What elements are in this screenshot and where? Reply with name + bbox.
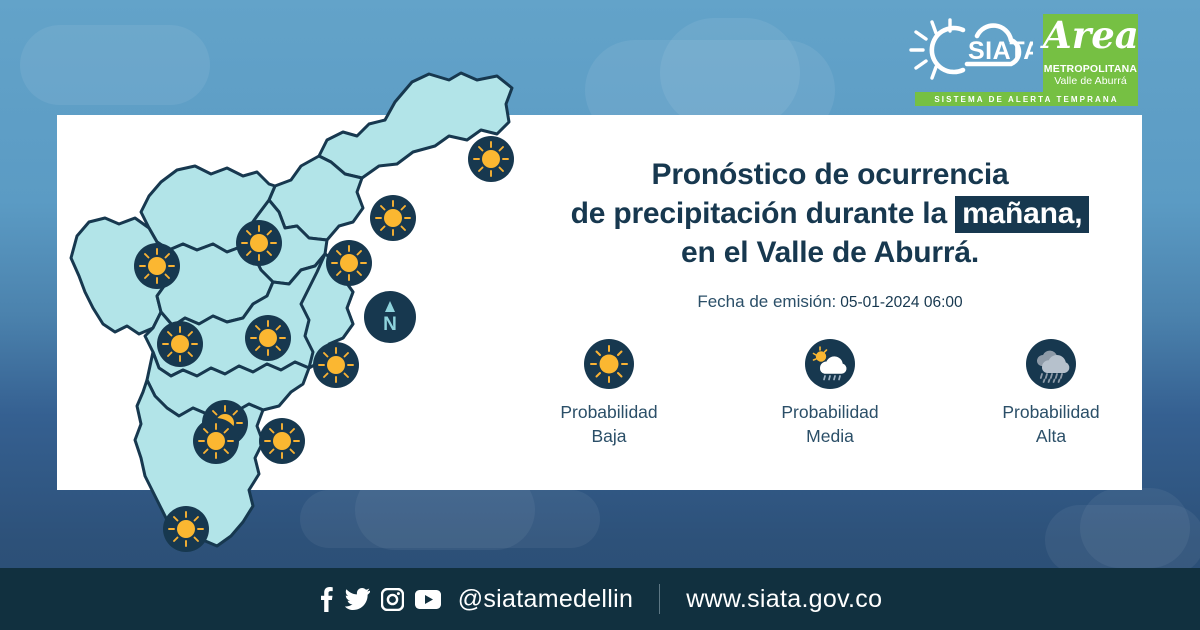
legend-caption-media: Probabilidad Media [781,401,878,448]
map-marker-san-pedro[interactable] [236,220,282,266]
youtube-icon[interactable] [415,590,441,609]
legend-caption-line1: Probabilidad [781,401,878,425]
legend-caption-line1: Probabilidad [560,401,657,425]
title-highlight-manana: mañana, [955,196,1089,233]
valle-de-aburra-map: N [57,40,527,580]
title-line-2: de precipitación durante la mañana, [520,194,1140,233]
legend-item-alta: Probabilidad Alta [979,339,1124,448]
legend-caption-line2: Media [781,425,878,449]
title-line-2-text: de precipitación durante la [571,197,947,230]
instagram-icon[interactable] [381,588,404,611]
tagline-text: SISTEMA DE ALERTA TEMPRANA [934,95,1118,104]
map-marker-bello[interactable] [245,315,291,361]
facebook-icon[interactable] [318,586,334,612]
title-line-1: Pronóstico de ocurrencia [520,155,1140,194]
area-script-text: Area [1043,17,1138,54]
legend-caption-alta: Probabilidad Alta [1002,401,1099,448]
decorative-cloud [1080,488,1190,568]
map-marker-sabaneta[interactable] [193,418,239,464]
emission-date: Fecha de emisión:05-01-2024 06:00 [520,292,1140,312]
sun-cloud-rain-icon [805,339,855,389]
legend-caption-line2: Alta [1002,425,1099,449]
area-line2: Valle de Aburrá [1054,75,1127,87]
legend-item-media: Probabilidad Media [758,339,903,448]
area-metropolitana-logo: Area METROPOLITANA Valle de Aburrá [1043,14,1138,92]
svg-text:SIATA: SIATA [968,37,1033,65]
map-marker-san-jeronimo[interactable] [134,243,180,289]
probability-legend: Probabilidad Baja [520,339,1140,448]
emission-date-value: 05-01-2024 06:00 [840,294,962,311]
forecast-panel: Pronóstico de ocurrencia de precipitació… [520,155,1140,448]
map-marker-medellin-norte[interactable] [157,321,203,367]
logo-group: SIATA Area METROPOLITANA Valle de Aburrá [905,14,1138,92]
map-marker-la-estrella[interactable] [163,506,209,552]
svg-text:N: N [383,314,397,335]
twitter-icon[interactable] [345,588,370,610]
emission-date-label: Fecha de emisión: [697,292,836,311]
footer-bar: @siatamedellin www.siata.gov.co [0,568,1200,630]
map-marker-medellin-centro[interactable] [313,342,359,388]
compass-north-indicator: N [364,291,416,343]
map-marker-girardota[interactable] [370,195,416,241]
legend-caption-baja: Probabilidad Baja [560,401,657,448]
map-marker-copacabana[interactable] [326,240,372,286]
page-title: Pronóstico de ocurrencia de precipitació… [520,155,1140,272]
map-marker-barbosa[interactable] [468,136,514,182]
sun-icon [584,339,634,389]
website-url[interactable]: www.siata.gov.co [686,585,882,614]
map-marker-envigado[interactable] [259,418,305,464]
tagline-bar: SISTEMA DE ALERTA TEMPRANA [915,92,1138,106]
title-line-3: en el Valle de Aburrá. [520,233,1140,272]
cloud-heavy-rain-icon [1026,339,1076,389]
legend-item-baja: Probabilidad Baja [537,339,682,448]
siata-logo: SIATA [905,14,1033,86]
footer-divider [659,584,660,614]
decorative-cloud [660,18,800,128]
social-handle[interactable]: @siatamedellin [458,585,634,614]
area-line1: METROPOLITANA [1044,63,1137,75]
legend-caption-line1: Probabilidad [1002,401,1099,425]
social-icon-group [318,586,441,612]
legend-caption-line2: Baja [560,425,657,449]
